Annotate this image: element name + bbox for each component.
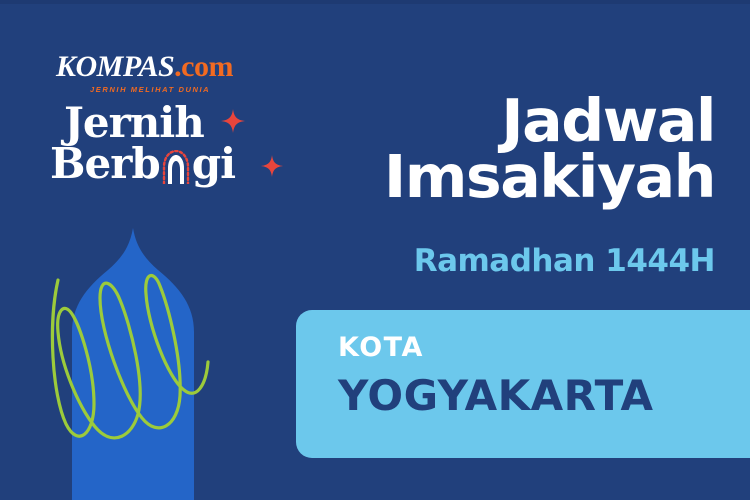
kompas-logo-suffix: .com: [174, 50, 233, 83]
page-title: Jadwal Imsakiyah: [245, 94, 715, 205]
headline-line-2: Imsakiyah: [236, 150, 715, 204]
kompas-logo: KOMPAS.com JERNIH MELIHAT DUNIA: [56, 52, 276, 94]
headline-line-1: Jadwal: [236, 94, 715, 148]
city-name-label: YOGYAKARTA: [338, 375, 750, 417]
kompas-logo-main: KOMPAS: [56, 50, 174, 83]
mosque-arch-icon: [42, 228, 224, 500]
kompas-wordmark: KOMPAS.com: [56, 52, 233, 82]
arch-letter-a-icon: [161, 150, 191, 182]
campaign-line-2-before: Berb: [50, 139, 160, 188]
city-kicker-label: KOTA: [338, 334, 750, 361]
campaign-line-2-after: gi: [192, 139, 235, 188]
top-edge-strip: [0, 0, 750, 4]
kompas-tagline: JERNIH MELIHAT DUNIA: [90, 85, 276, 94]
headline-subtitle: Ramadhan 1444H: [245, 246, 715, 277]
poster-canvas: KOMPAS.com JERNIH MELIHAT DUNIA Jernih B…: [0, 0, 750, 500]
city-panel: KOTA YOGYAKARTA: [296, 310, 750, 458]
mosque-illustration: [42, 228, 224, 500]
